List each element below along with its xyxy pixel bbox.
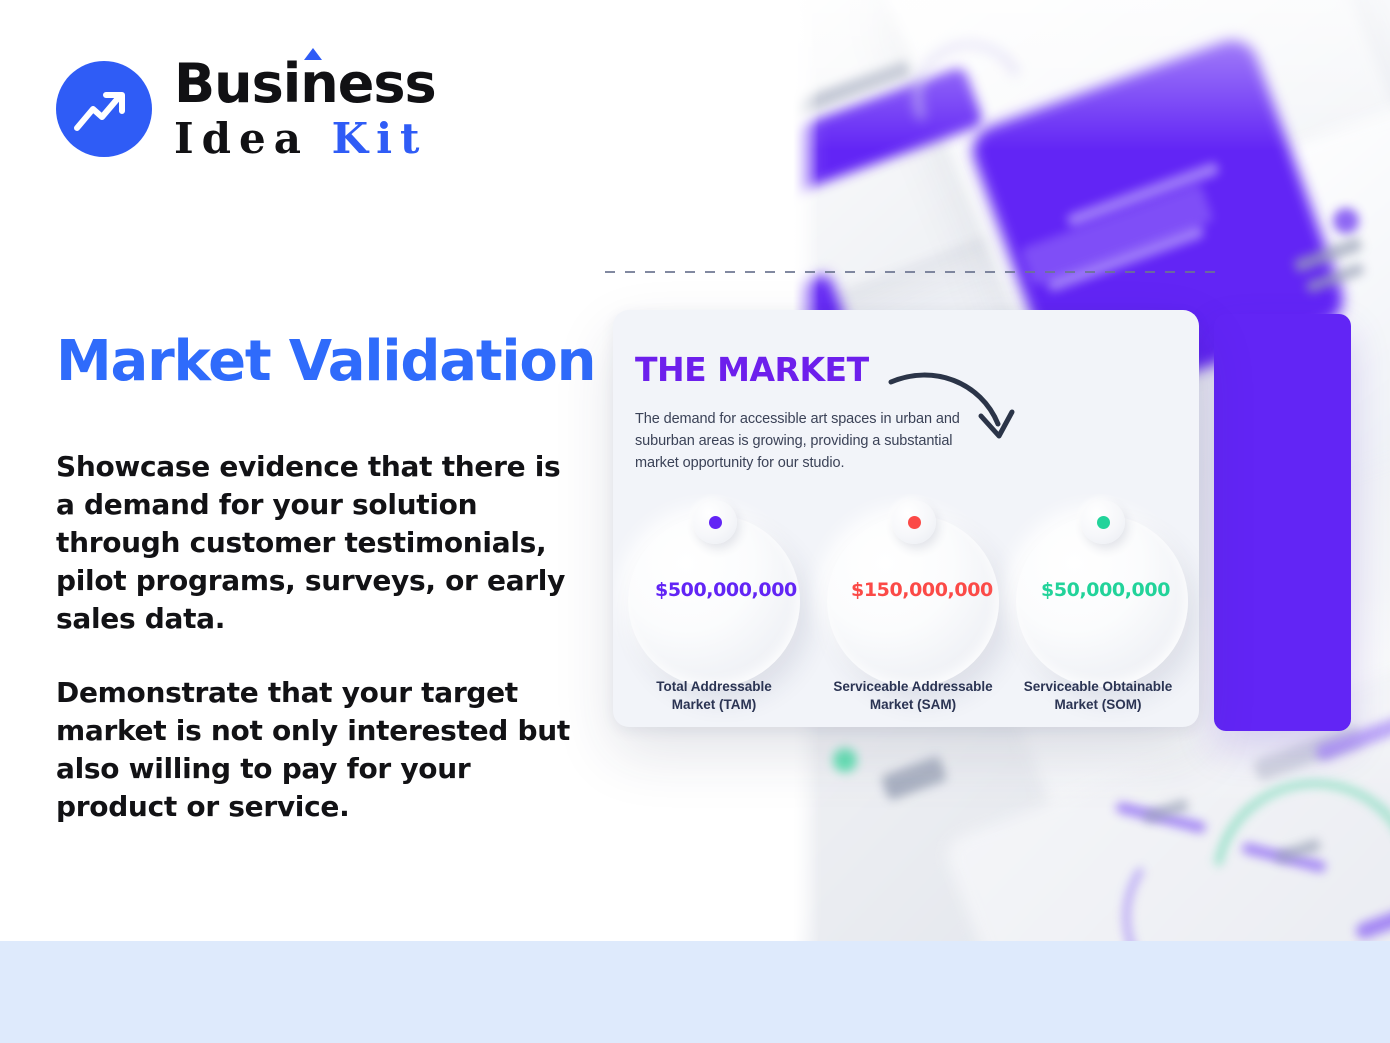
metric-amount: $50,000,000 — [1041, 579, 1170, 601]
metric-knob — [693, 500, 737, 544]
background-dot — [1333, 208, 1359, 234]
metric-knob — [1081, 500, 1125, 544]
background-dot — [833, 748, 857, 772]
status-dot-icon — [908, 516, 921, 529]
market-card-title: THE MARKET — [635, 350, 869, 389]
dashed-connector-line — [605, 271, 1217, 273]
slide-canvas: Business Idea Kit Market Validation Show… — [0, 0, 1390, 1043]
trending-up-chart-icon — [56, 61, 152, 157]
the-market-card: THE MARKET The demand for accessible art… — [613, 310, 1199, 727]
metric-amount: $500,000,000 — [655, 579, 797, 601]
purple-accent-slab — [1214, 314, 1351, 731]
page-title: Market Validation — [56, 333, 696, 392]
metric-label-line2: Market (TAM) — [672, 697, 757, 712]
brand-name-line1: Business — [174, 57, 436, 111]
brand-wordmark: Business Idea Kit — [174, 57, 436, 160]
metric-label-line1: Serviceable Addressable — [833, 679, 992, 694]
metric-label: Serviceable Obtainable Market (SOM) — [998, 678, 1198, 714]
caret-accent-icon — [304, 48, 322, 60]
metric-label-line1: Total Addressable — [656, 679, 772, 694]
brand-name-idea: Idea — [174, 114, 309, 163]
metric-label: Total Addressable Market (TAM) — [628, 678, 800, 714]
market-metrics-row: $500,000,000 Total Addressable Market (T… — [613, 495, 1199, 727]
status-dot-icon — [1097, 516, 1110, 529]
brand-name-line2: Idea Kit — [174, 118, 436, 160]
body-paragraph-1: Showcase evidence that there is a demand… — [56, 448, 576, 638]
status-dot-icon — [709, 516, 722, 529]
brand-name-line1-text: Business — [174, 52, 436, 115]
metric-label-line1: Serviceable Obtainable — [1024, 679, 1173, 694]
metric-label-line2: Market (SOM) — [1054, 697, 1141, 712]
metric-label: Serviceable Addressable Market (SAM) — [813, 678, 1013, 714]
metric-knob — [892, 500, 936, 544]
curved-arrow-icon — [885, 358, 1025, 453]
brand-name-kit: Kit — [332, 114, 428, 163]
metric-amount: $150,000,000 — [851, 579, 993, 601]
brand-logo: Business Idea Kit — [56, 57, 436, 160]
bottom-accent-band — [0, 941, 1390, 1043]
body-paragraph-2: Demonstrate that your target market is n… — [56, 674, 576, 826]
metric-label-line2: Market (SAM) — [870, 697, 956, 712]
